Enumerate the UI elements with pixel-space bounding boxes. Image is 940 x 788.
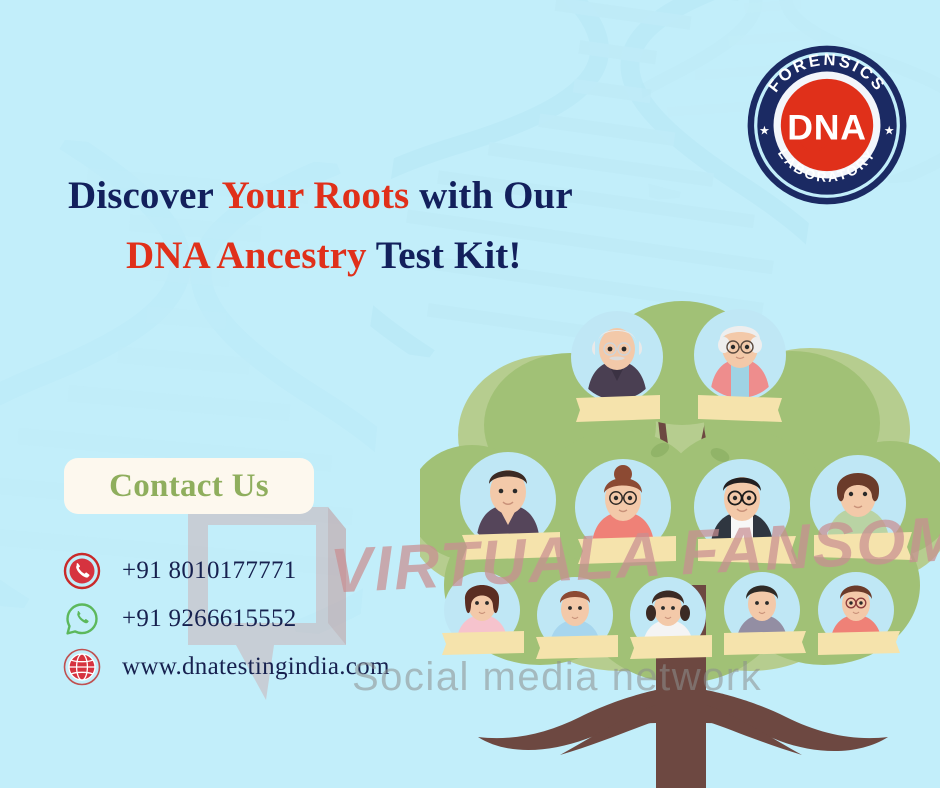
contact-us-heading: Contact Us <box>64 458 314 514</box>
phone-number: +91 8010177771 <box>122 557 297 585</box>
headline-seg-test-kit: Test Kit! <box>367 234 522 277</box>
poster-canvas: Discover Your Roots with Our DNA Ancestr… <box>0 0 940 788</box>
contact-row-phone[interactable]: +91 8010177771 <box>62 548 482 594</box>
page-title: Discover Your Roots with Our DNA Ancestr… <box>68 166 708 287</box>
portrait-grandfather <box>571 311 663 403</box>
logo-center-text: DNA <box>787 108 867 148</box>
headline-seg-dna-ancestry: DNA Ancestry <box>126 234 367 277</box>
globe-icon <box>62 647 102 687</box>
headline-line2: DNA Ancestry Test Kit! <box>68 226 708 286</box>
contact-row-whatsapp[interactable]: +91 9266615552 <box>62 596 482 642</box>
family-tree-illustration <box>420 285 940 788</box>
contact-row-website[interactable]: www.dnatestingindia.com <box>62 644 482 690</box>
logo-star-right-icon: ★ <box>884 124 895 138</box>
logo-star-left-icon: ★ <box>759 124 770 138</box>
whatsapp-number: +91 9266615552 <box>122 605 297 633</box>
headline-seg-discover: Discover <box>68 174 222 217</box>
whatsapp-icon <box>62 599 102 639</box>
headline-seg-your-roots: Your Roots <box>222 174 410 217</box>
headline-line1: Discover Your Roots with Our <box>68 174 573 217</box>
contact-list: +91 8010177771 +91 9266615552 <box>62 548 482 692</box>
phone-icon <box>62 551 102 591</box>
portrait-grandmother <box>694 309 786 401</box>
website-url: www.dnatestingindia.com <box>122 653 390 681</box>
forensics-laboratory-logo: FORENSICS LABORATORY ★ ★ DNA <box>746 44 908 206</box>
headline-seg-with-our: with Our <box>409 174 572 217</box>
